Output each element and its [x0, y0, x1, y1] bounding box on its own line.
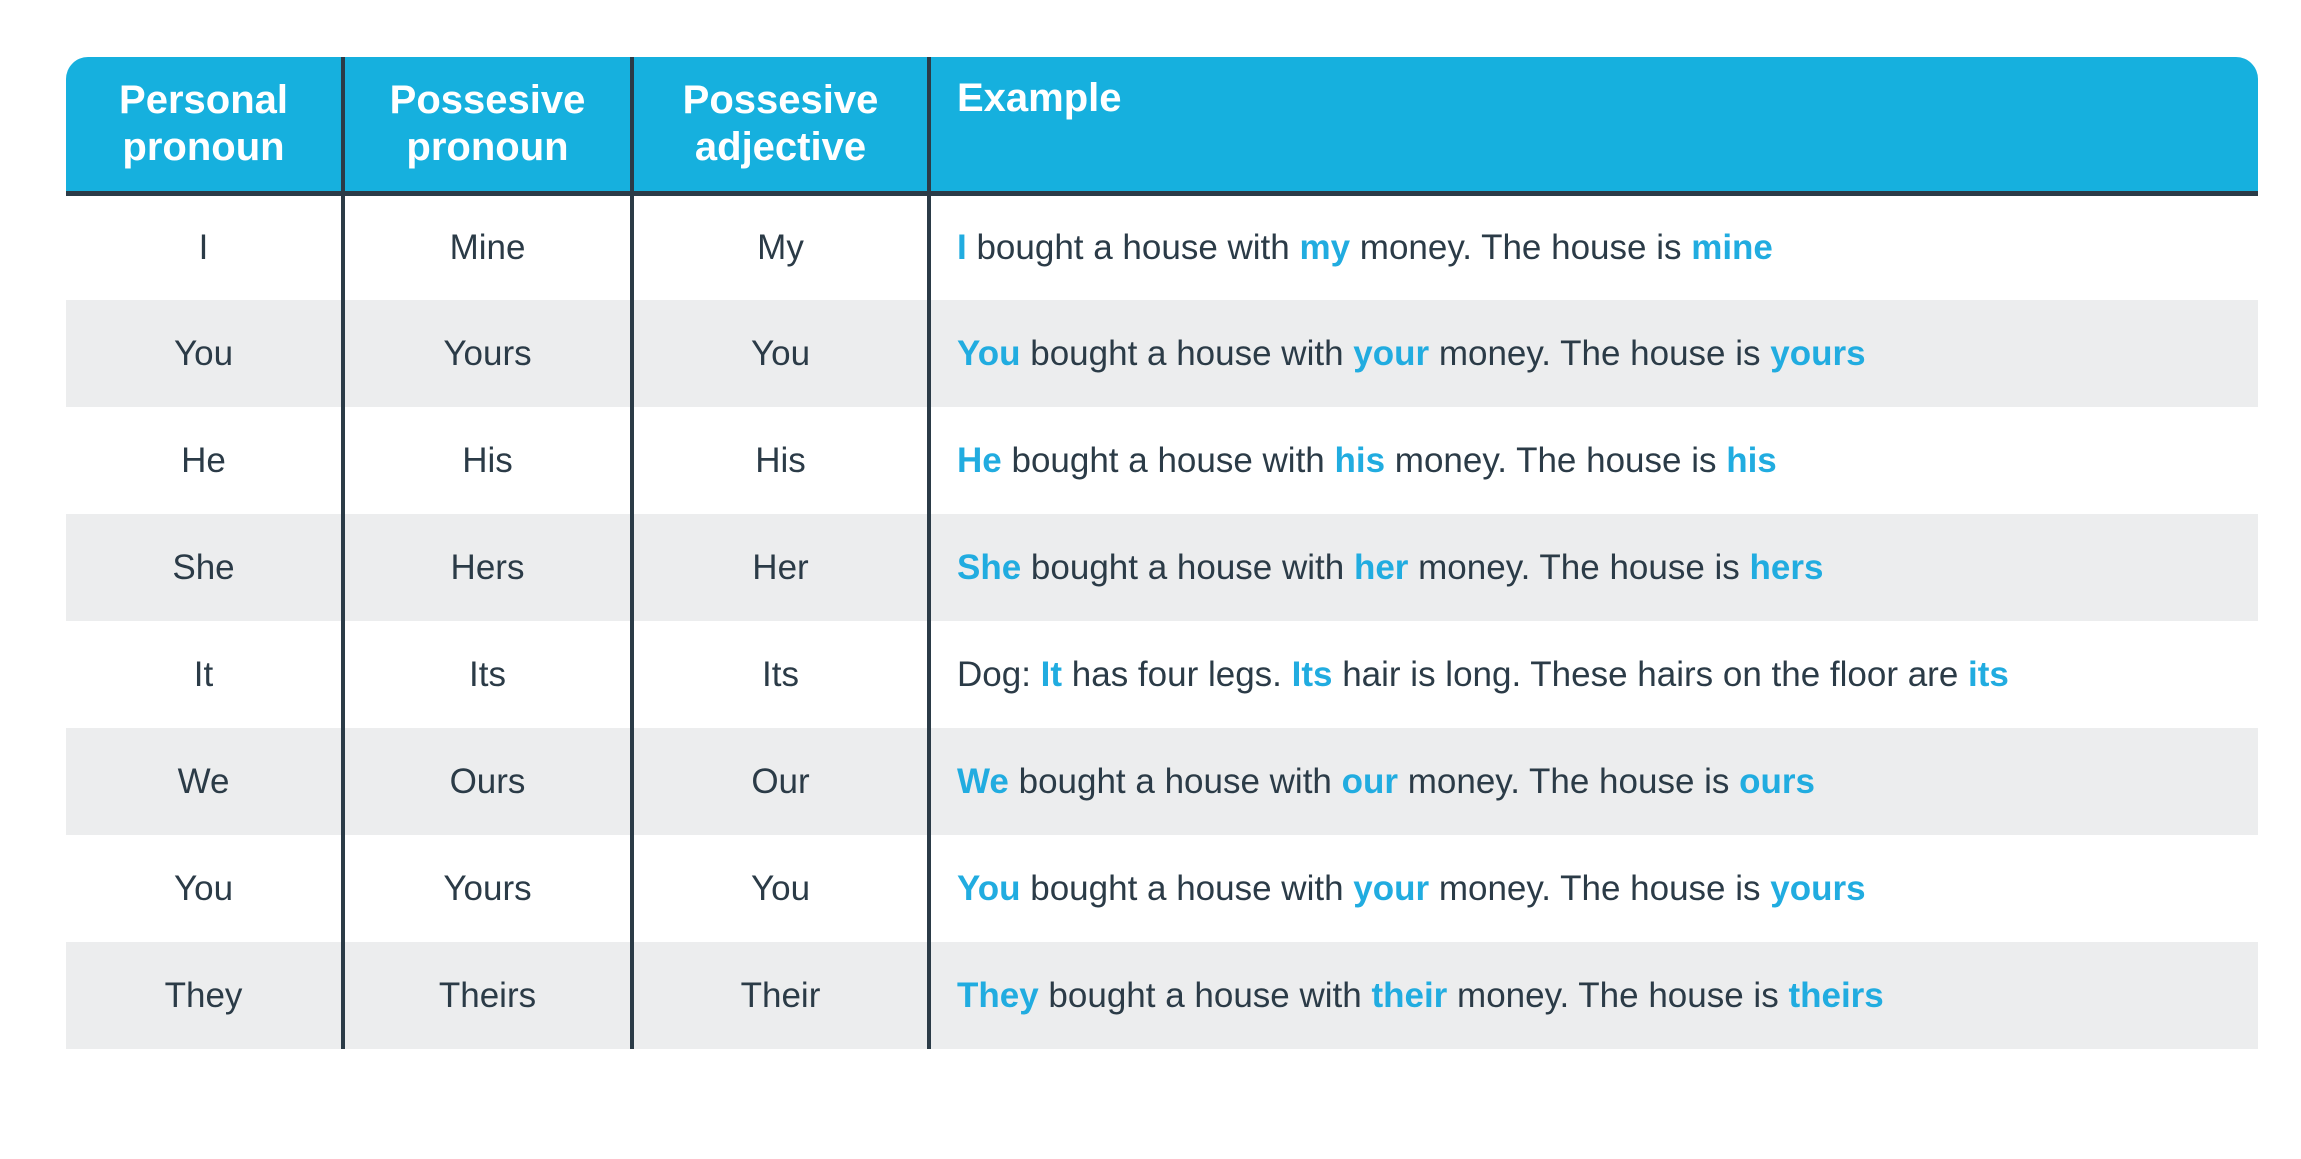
- header-label-line: Possesive: [390, 78, 586, 122]
- header-label-line: Example: [957, 76, 1122, 120]
- example-text: hair is long. These hairs on the floor a…: [1332, 655, 1968, 694]
- example-text: bought a house with: [1021, 548, 1354, 587]
- header-label-line: pronoun: [122, 125, 284, 169]
- cell-example: You bought a house with your money. The …: [929, 835, 2258, 942]
- highlighted-word: mine: [1691, 228, 1773, 267]
- cell-personal-pronoun: She: [66, 514, 343, 621]
- pronoun-reference-page: Personalpronoun Possesivepronoun Possesi…: [0, 0, 2301, 1159]
- table-container: Personalpronoun Possesivepronoun Possesi…: [66, 57, 2258, 1049]
- highlighted-word: its: [1968, 655, 2009, 694]
- cell-personal-pronoun: I: [66, 193, 343, 300]
- table-row: WeOursOurWe bought a house with our mone…: [66, 728, 2258, 835]
- cell-example: He bought a house with his money. The ho…: [929, 407, 2258, 514]
- highlighted-word: We: [957, 762, 1009, 801]
- cell-example: I bought a house with my money. The hous…: [929, 193, 2258, 300]
- cell-possesive-adjective: You: [632, 300, 929, 407]
- cell-example: You bought a house with your money. The …: [929, 300, 2258, 407]
- column-header-possesive-pronoun: Possesivepronoun: [343, 57, 632, 193]
- table-row: TheyTheirsTheirThey bought a house with …: [66, 942, 2258, 1049]
- cell-example: Dog: It has four legs. Its hair is long.…: [929, 621, 2258, 728]
- example-text: bought a house with: [1021, 869, 1354, 908]
- cell-possesive-pronoun: Yours: [343, 835, 632, 942]
- example-text: bought a house with: [1021, 334, 1354, 373]
- cell-example: They bought a house with their money. Th…: [929, 942, 2258, 1049]
- highlighted-word: ours: [1739, 762, 1815, 801]
- highlighted-word: hers: [1750, 548, 1824, 587]
- cell-example: We bought a house with our money. The ho…: [929, 728, 2258, 835]
- highlighted-word: our: [1342, 762, 1398, 801]
- header-row: Personalpronoun Possesivepronoun Possesi…: [66, 57, 2258, 193]
- cell-personal-pronoun: You: [66, 300, 343, 407]
- cell-personal-pronoun: We: [66, 728, 343, 835]
- header-label-line: adjective: [695, 125, 866, 169]
- highlighted-word: her: [1354, 548, 1408, 587]
- cell-possesive-pronoun: Hers: [343, 514, 632, 621]
- example-text: bought a house with: [1039, 976, 1372, 1015]
- table-body: IMineMyI bought a house with my money. T…: [66, 193, 2258, 1049]
- cell-possesive-adjective: Her: [632, 514, 929, 621]
- cell-possesive-pronoun: His: [343, 407, 632, 514]
- highlighted-word: your: [1353, 334, 1429, 373]
- highlighted-word: Its: [1292, 655, 1333, 694]
- header-label-line: Personal: [119, 78, 288, 122]
- highlighted-word: I: [957, 228, 967, 267]
- highlighted-word: yours: [1770, 869, 1865, 908]
- cell-personal-pronoun: It: [66, 621, 343, 728]
- table-row: SheHersHerShe bought a house with her mo…: [66, 514, 2258, 621]
- cell-possesive-pronoun: Yours: [343, 300, 632, 407]
- example-text: bought a house with: [967, 228, 1300, 267]
- cell-possesive-adjective: Our: [632, 728, 929, 835]
- table-header: Personalpronoun Possesivepronoun Possesi…: [66, 57, 2258, 193]
- cell-possesive-pronoun: Ours: [343, 728, 632, 835]
- cell-possesive-adjective: My: [632, 193, 929, 300]
- cell-example: She bought a house with her money. The h…: [929, 514, 2258, 621]
- example-text: money. The house is: [1429, 334, 1770, 373]
- header-label-line: Possesive: [683, 78, 879, 122]
- highlighted-word: theirs: [1788, 976, 1883, 1015]
- table-row: IMineMyI bought a house with my money. T…: [66, 193, 2258, 300]
- highlighted-word: yours: [1770, 334, 1865, 373]
- example-text: bought a house with: [1009, 762, 1342, 801]
- highlighted-word: You: [957, 334, 1021, 373]
- table-row: ItItsItsDog: It has four legs. Its hair …: [66, 621, 2258, 728]
- example-text: Dog:: [957, 655, 1041, 694]
- column-header-example: Example: [929, 57, 2258, 193]
- example-text: money. The house is: [1385, 441, 1726, 480]
- example-text: money. The house is: [1429, 869, 1770, 908]
- highlighted-word: your: [1353, 869, 1429, 908]
- example-text: money. The house is: [1447, 976, 1788, 1015]
- highlighted-word: You: [957, 869, 1021, 908]
- cell-possesive-pronoun: Its: [343, 621, 632, 728]
- table-row: HeHisHisHe bought a house with his money…: [66, 407, 2258, 514]
- table-row: YouYoursYouYou bought a house with your …: [66, 835, 2258, 942]
- highlighted-word: their: [1371, 976, 1447, 1015]
- pronoun-table: Personalpronoun Possesivepronoun Possesi…: [66, 57, 2258, 1049]
- cell-personal-pronoun: He: [66, 407, 343, 514]
- example-text: money. The house is: [1398, 762, 1739, 801]
- cell-personal-pronoun: You: [66, 835, 343, 942]
- column-header-possesive-adjective: Possesiveadjective: [632, 57, 929, 193]
- cell-possesive-adjective: Their: [632, 942, 929, 1049]
- column-header-personal-pronoun: Personalpronoun: [66, 57, 343, 193]
- highlighted-word: his: [1726, 441, 1777, 480]
- highlighted-word: my: [1299, 228, 1350, 267]
- example-text: money. The house is: [1350, 228, 1691, 267]
- highlighted-word: She: [957, 548, 1021, 587]
- cell-possesive-pronoun: Mine: [343, 193, 632, 300]
- cell-personal-pronoun: They: [66, 942, 343, 1049]
- highlighted-word: He: [957, 441, 1002, 480]
- header-label-line: pronoun: [406, 125, 568, 169]
- cell-possesive-pronoun: Theirs: [343, 942, 632, 1049]
- cell-possesive-adjective: His: [632, 407, 929, 514]
- highlighted-word: They: [957, 976, 1039, 1015]
- cell-possesive-adjective: You: [632, 835, 929, 942]
- highlighted-word: his: [1335, 441, 1386, 480]
- table-row: YouYoursYouYou bought a house with your …: [66, 300, 2258, 407]
- highlighted-word: It: [1041, 655, 1062, 694]
- example-text: has four legs.: [1062, 655, 1292, 694]
- example-text: bought a house with: [1002, 441, 1335, 480]
- cell-possesive-adjective: Its: [632, 621, 929, 728]
- example-text: money. The house is: [1408, 548, 1749, 587]
